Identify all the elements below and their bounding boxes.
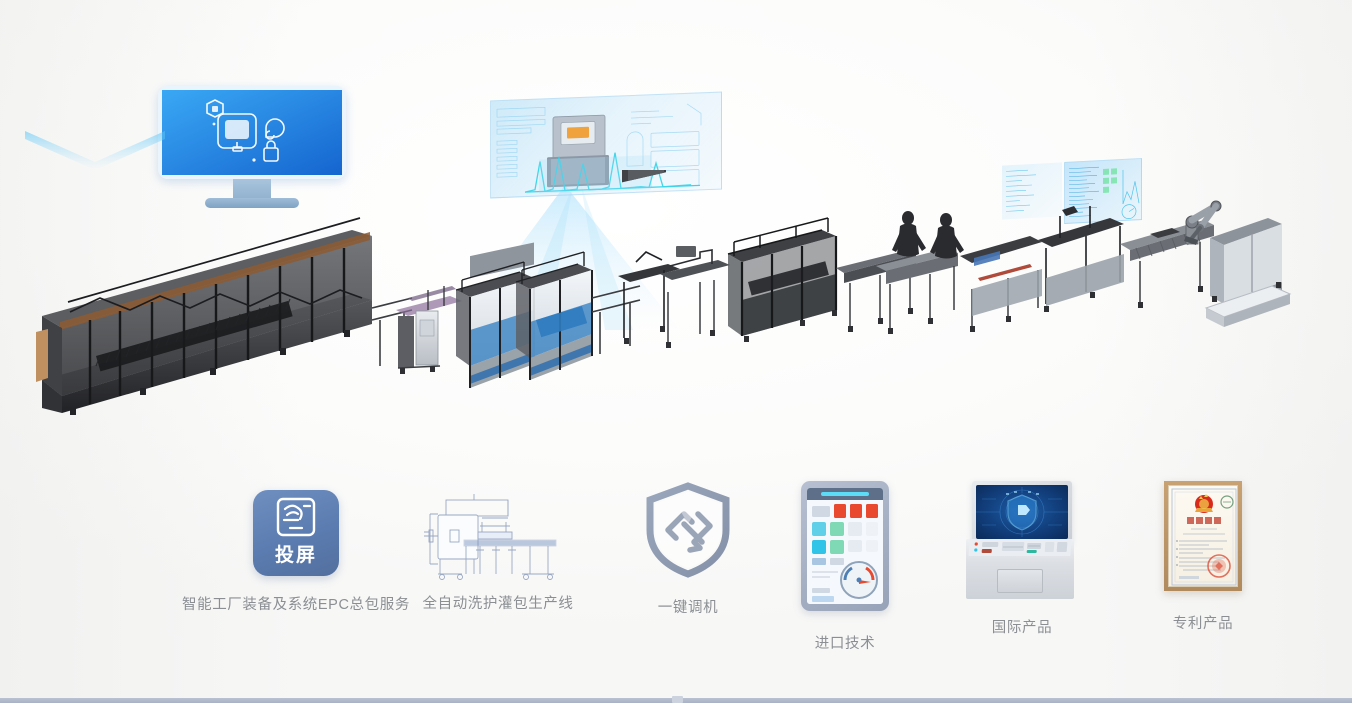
scroll-indicator-notch[interactable] [672,696,683,703]
tablet-screen-graphic [807,488,883,604]
feature-label-one-key-tune: 一键调机 [640,601,736,616]
certificate-graphic [1169,486,1238,587]
feature-item-epc[interactable]: 投屏 智能工厂装备及系统EPC总包服务 [182,490,410,613]
page-canvas: 投屏 智能工厂装备及系统EPC总包服务 [0,0,1352,703]
feature-item-imported-tech[interactable]: 进口技术 [801,481,889,652]
feature-row: 投屏 智能工厂装备及系统EPC总包服务 [0,470,1352,685]
line-section-cage [728,218,837,342]
line-section-packing [960,170,1042,332]
feature-label-international-product: 国际产品 [966,621,1078,636]
line-section-enclosure [36,218,372,415]
monitor-screen-graphic [162,90,342,175]
feature-item-international-product[interactable]: 国际产品 [966,481,1078,636]
production-line-blueprint-icon [418,492,578,584]
badge-text: 投屏 [253,540,339,567]
automated-production-line [0,170,1352,440]
feature-item-wash-fill-line[interactable]: 全自动洗护灌包生产线 [418,492,578,612]
monitor-light-beam [20,128,170,168]
line-section-dark-machine [618,170,680,344]
line-section-roller-conveyor [1120,170,1214,308]
scroll-indicator-bar[interactable] [0,698,1352,703]
screen-cast-badge-icon: 投屏 [253,490,339,576]
console-screen-graphic [976,485,1068,539]
feature-label-imported-tech: 进口技术 [801,637,889,652]
feature-label-patented-product: 专利产品 [1164,617,1242,632]
feature-label-wash-fill-line: 全自动洗护灌包生产线 [418,597,578,612]
line-section-cartoner [1038,170,1124,312]
console-drawer [997,569,1043,593]
feature-label-epc: 智能工厂装备及系统EPC总包服务 [182,598,410,613]
control-console-icon [966,481,1074,599]
worker-figure [892,211,926,257]
line-section-inspection [660,170,730,348]
shield-wrench-icon [640,480,736,580]
monitor-screen [158,86,346,179]
line-section-work-station [876,211,964,334]
console-control-panel [968,539,1071,556]
patent-certificate-icon [1164,481,1242,591]
line-section-pallet-stack [1206,218,1290,327]
feature-item-one-key-tune[interactable]: 一键调机 [640,480,736,616]
feature-item-patented-product[interactable]: 专利产品 [1164,481,1242,632]
line-section-conveyor-b [592,286,640,354]
worker-figure [930,213,964,259]
tablet-dashboard-icon [801,481,889,611]
